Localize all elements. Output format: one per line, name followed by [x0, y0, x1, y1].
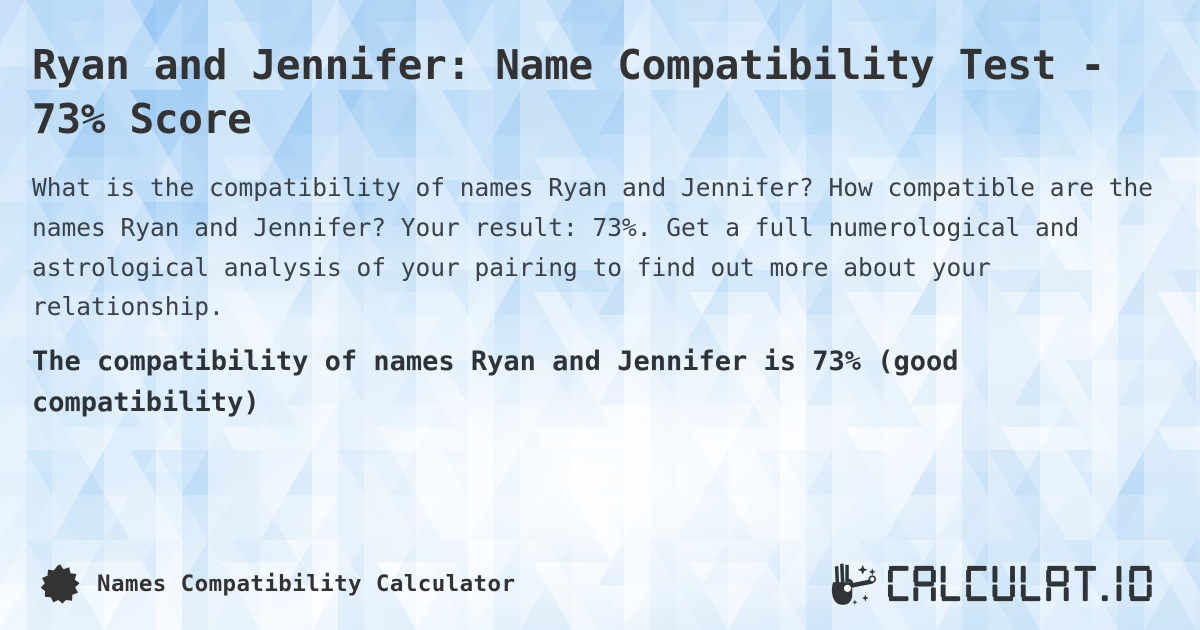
- card-footer: Names Compatibility Calculator: [0, 538, 1200, 630]
- card-content: Ryan and Jennifer: Name Compatibility Te…: [0, 0, 1200, 630]
- brand-label: Names Compatibility Calculator: [97, 571, 515, 597]
- hand-magic-wand-icon: [827, 561, 881, 607]
- social-share-card: Ryan and Jennifer: Name Compatibility Te…: [0, 0, 1200, 630]
- compatibility-result: The compatibility of names Ryan and Jenn…: [32, 341, 1168, 423]
- page-title: Ryan and Jennifer: Name Compatibility Te…: [32, 38, 1162, 146]
- brand-block: Names Compatibility Calculator: [40, 564, 515, 604]
- starburst-icon: [40, 564, 80, 604]
- calculatio-logo: CALCULAT.IO: [827, 561, 1160, 607]
- lead-description: What is the compatibility of names Ryan …: [32, 168, 1167, 327]
- logo-wordmark: [887, 563, 1160, 605]
